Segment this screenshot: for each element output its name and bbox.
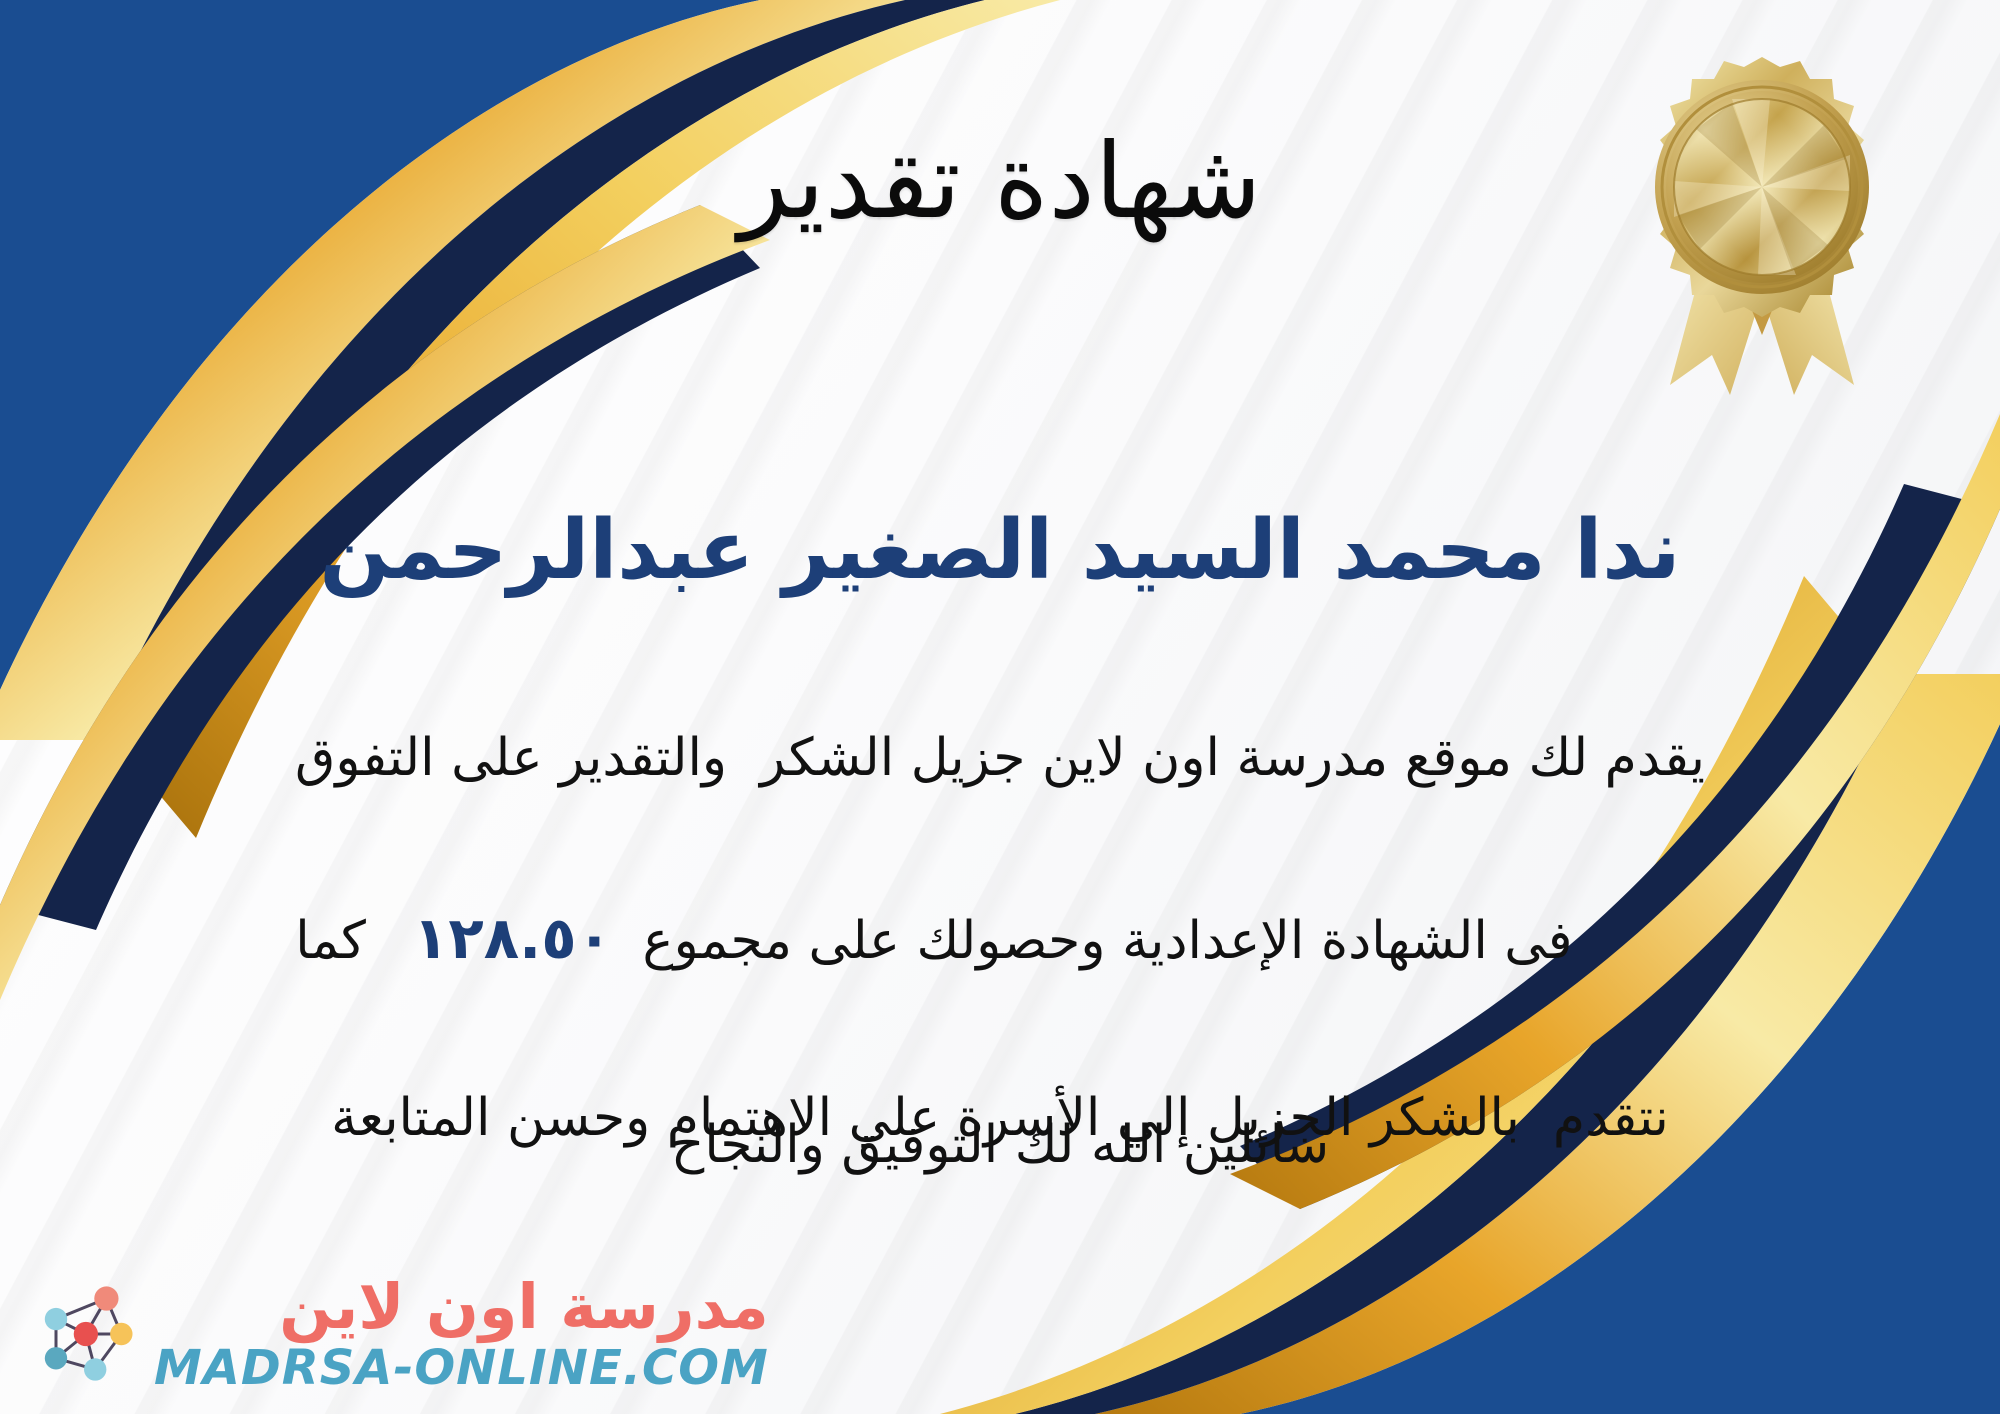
closing-wish-line: سائلين الله لك التوفيق والنجاح [0, 1115, 2000, 1175]
body-line-2: فى الشهادة الإعدادية وحصولك على مجموع ١٢… [60, 802, 1940, 1074]
recipient-name: ندا محمد السيد الصغير عبدالرحمن [0, 500, 2000, 603]
award-seal-medal-icon [1612, 55, 1912, 410]
logo-domain: MADRSA-ONLINE.COM [154, 1344, 769, 1392]
total-score-value: ١٢٨.٥٠ [399, 904, 626, 972]
body-line-2-suffix: كما [295, 911, 399, 971]
site-logo[interactable]: مدرسة اون لاين MADRSA-ONLINE.COM [28, 1276, 769, 1392]
body-line-1: يقدم لك موقع مدرسة اون لاين جزيل الشكر و… [60, 715, 1940, 802]
network-nodes-icon [28, 1278, 140, 1390]
logo-arabic-name: مدرسة اون لاين [279, 1276, 769, 1338]
certificate-page: شهادة تقدير ندا محمد السيد الصغير عبدالر… [0, 0, 2000, 1414]
body-line-2-prefix: فى الشهادة الإعدادية وحصولك على مجموع [626, 911, 1573, 971]
certificate-body: يقدم لك موقع مدرسة اون لاين جزيل الشكر و… [60, 715, 1940, 1162]
logo-text-block: مدرسة اون لاين MADRSA-ONLINE.COM [154, 1276, 769, 1392]
